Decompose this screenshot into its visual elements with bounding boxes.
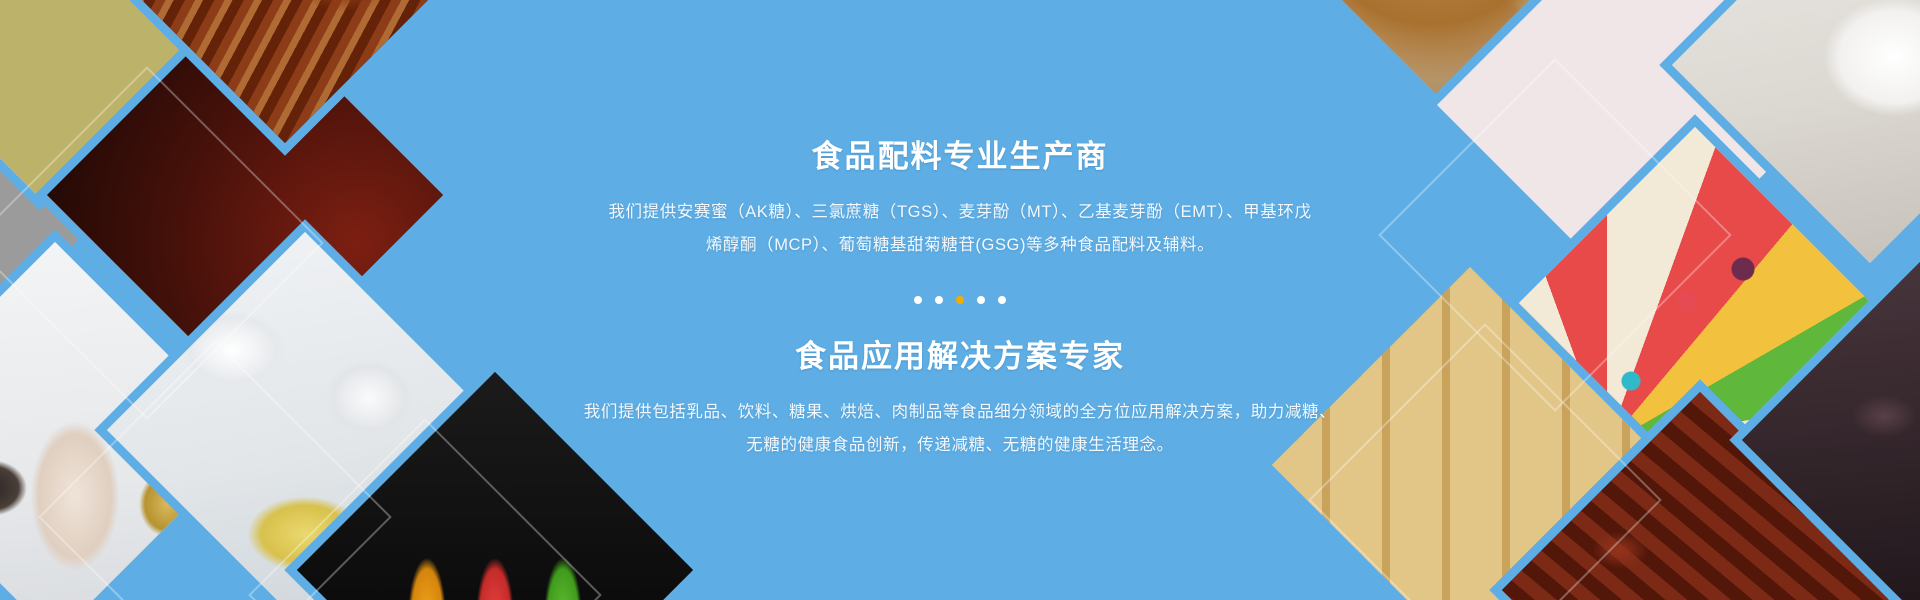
separator-dot-3-accent [956, 296, 964, 304]
dried-dates-photo [1502, 392, 1898, 600]
separator-dot-4 [977, 296, 985, 304]
description-producer: 我们提供安赛蜜（AK糖）、三氯蔗糖（TGS）、麦芽酚（MT）、乙基麦芽酚（EMT… [608, 196, 1311, 262]
dried-prunes-photo [1742, 242, 1920, 600]
tile-bubble-milk-tea [0, 242, 253, 600]
macarons-photo [1437, 0, 1833, 303]
separator-dot-5 [998, 296, 1006, 304]
grey-corner-wedge-bottom-left [0, 279, 66, 420]
outline-diamond-left [0, 66, 324, 420]
tile-milk-powder-and-cheese [107, 232, 503, 600]
headline-block-producer: 食品配料专业生产商 我们提供安赛蜜（AK糖）、三氯蔗糖（TGS）、麦芽酚（MT）… [608, 138, 1311, 262]
outline-diamond-left-2 [38, 340, 392, 600]
headline-block-solutions: 食品应用解决方案专家 我们提供包括乳品、饮料、糖果、烘焙、肉制品等食品细分领域的… [584, 338, 1336, 462]
milk-jug-photo [1672, 0, 1920, 263]
tile-grilled-meat [87, 0, 483, 143]
tile-mojito-and-cola [47, 0, 443, 393]
description-solutions: 我们提供包括乳品、饮料、糖果、烘焙、肉制品等食品细分领域的全方位应用解决方案，助… [584, 396, 1336, 462]
page-title-producer: 食品配料专业生产商 [608, 138, 1311, 175]
tile-dried-prunes [1742, 242, 1920, 600]
banner-text-panel: 食品配料专业生产商 我们提供安赛蜜（AK糖）、三氯蔗糖（TGS）、麦芽酚（MT）… [510, 0, 1410, 600]
outline-diamond-right [1378, 58, 1732, 412]
mojito-and-cola-photo [47, 0, 443, 393]
dot-separator [914, 296, 1006, 304]
bubble-milk-tea-photo [0, 242, 253, 600]
grilled-meat-photo [87, 0, 483, 143]
separator-dot-1 [914, 296, 922, 304]
milk-powder-and-cheese-photo [107, 232, 503, 600]
description-producer-line-2: 烯醇酮（MCP）、葡萄糖基甜菊糖苷(GSG)等多种食品配料及辅料。 [608, 229, 1311, 262]
tile-iced-lemon-drink [0, 0, 238, 198]
iced-lemon-drink-photo [0, 0, 238, 198]
tile-lollipop-candy [1497, 127, 1893, 523]
description-solutions-line-2: 无糖的健康食品创新，传递减糖、无糖的健康生活理念。 [584, 429, 1336, 462]
description-producer-line-1: 我们提供安赛蜜（AK糖）、三氯蔗糖（TGS）、麦芽酚（MT）、乙基麦芽酚（EMT… [608, 196, 1311, 229]
tile-dried-dates [1502, 392, 1898, 600]
tile-milk-jug [1672, 0, 1920, 263]
grey-corner-wedge-left [0, 147, 93, 303]
separator-dot-2 [935, 296, 943, 304]
hero-banner: 食品配料专业生产商 我们提供安赛蜜（AK糖）、三氯蔗糖（TGS）、麦芽酚（MT）… [0, 0, 1920, 600]
tile-macarons [1437, 0, 1833, 303]
lollipop-candy-photo [1497, 127, 1893, 523]
page-title-solutions: 食品应用解决方案专家 [584, 338, 1336, 375]
description-solutions-line-1: 我们提供包括乳品、饮料、糖果、烘焙、肉制品等食品细分领域的全方位应用解决方案，助… [584, 396, 1336, 429]
